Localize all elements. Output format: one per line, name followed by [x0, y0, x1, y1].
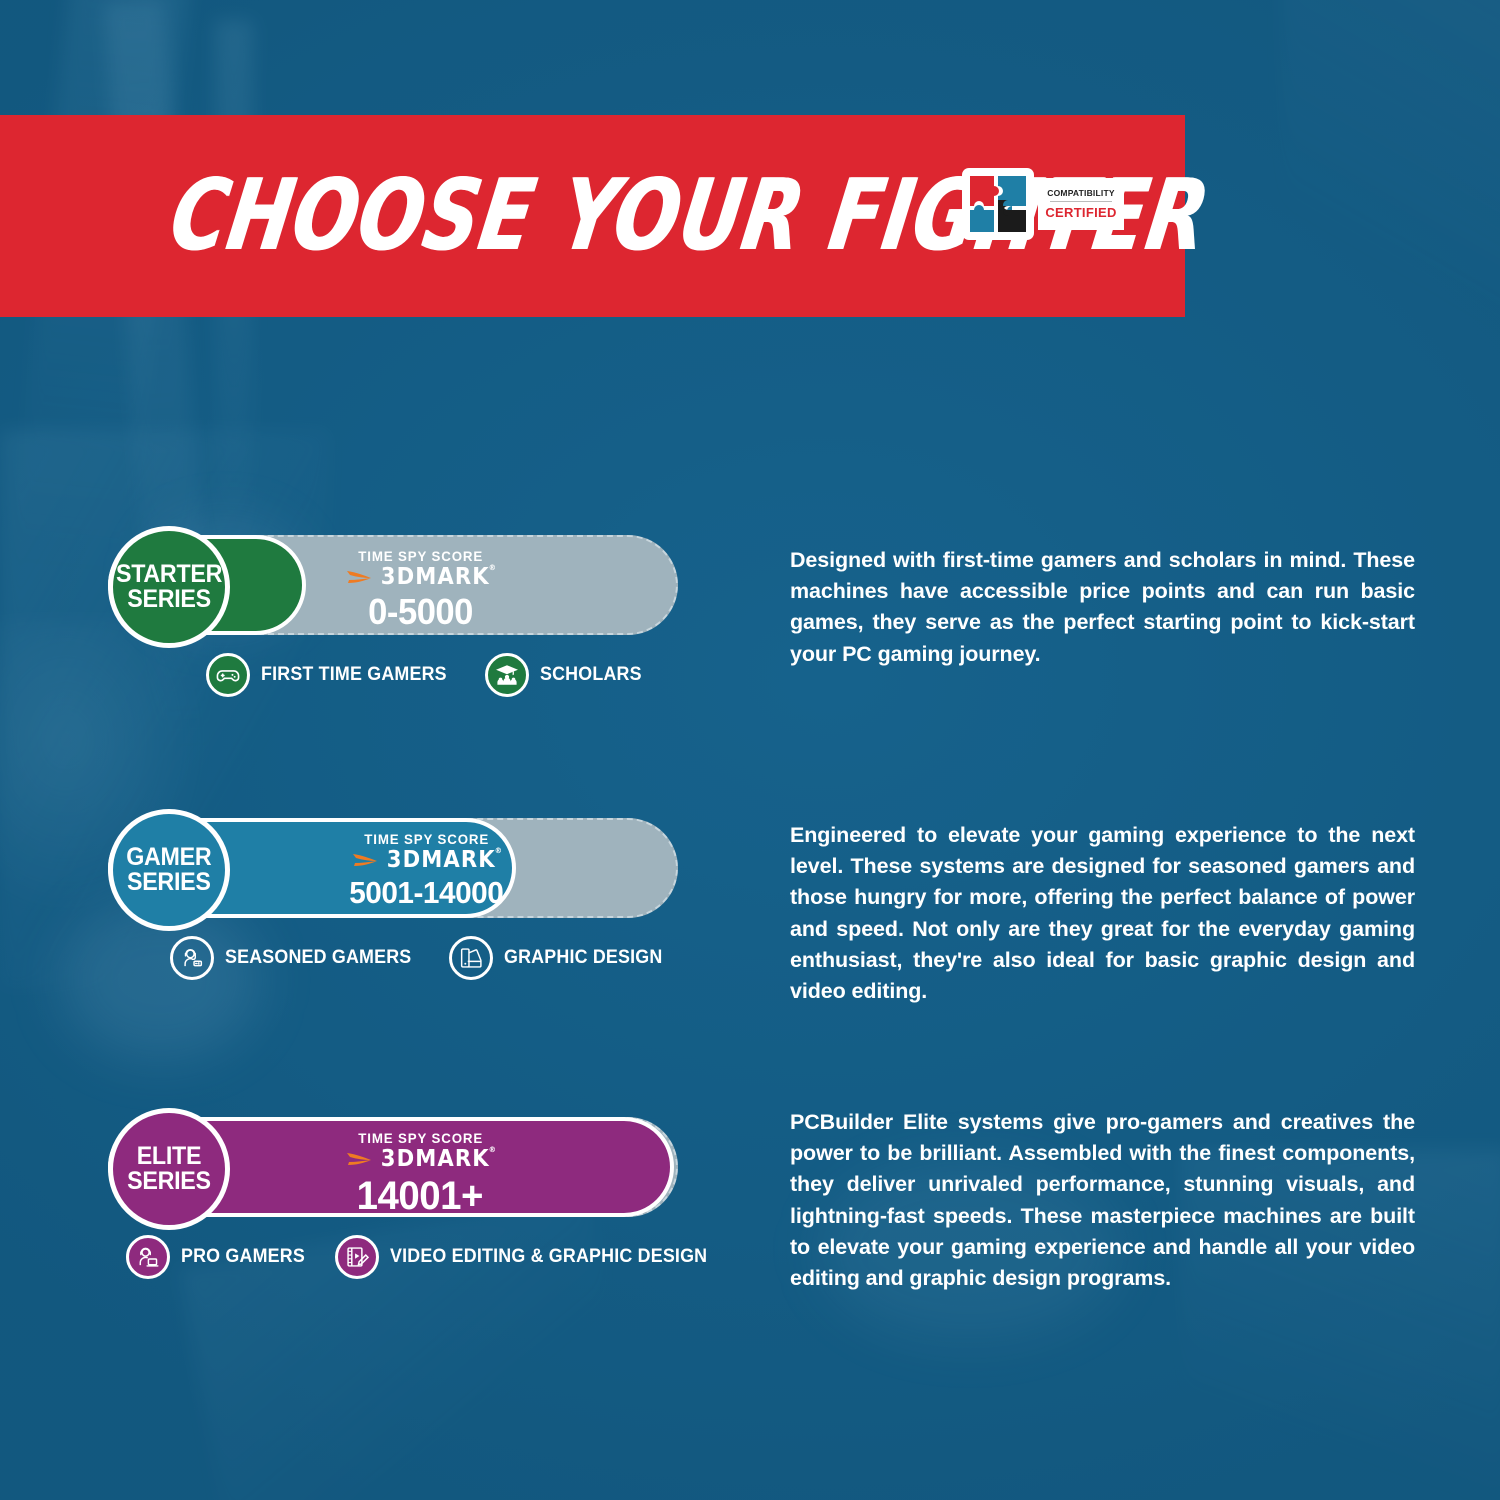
3dmark-logo: 3DMARK®: [346, 1148, 495, 1171]
3dmark-logo: 3DMARK®: [352, 849, 501, 872]
registered-mark: ®: [495, 847, 503, 855]
3dmark-text: 3DMARK: [381, 564, 490, 590]
certified-card: COMPATIBILITY CERTIFIED: [1038, 178, 1124, 230]
feature-label: GRAPHIC DESIGN: [504, 947, 662, 969]
tier-name-line1: GAMER: [126, 843, 211, 871]
tier-name-line1: STARTER: [116, 560, 222, 588]
scholars-icon: [485, 653, 529, 697]
feature-row: FIRST TIME GAMERS SCHOLARS: [206, 653, 674, 697]
tier-visual: STARTER SERIES TIME SPY SCORE 3DMARK® 0-…: [108, 535, 678, 635]
3dmark-text: 3DMARK: [381, 1146, 490, 1172]
score-value: 0-5000: [368, 594, 473, 630]
3dmark-wordmark: 3DMARK®: [381, 1148, 490, 1171]
tier-description: Engineered to elevate your gaming experi…: [790, 820, 1415, 1007]
tier-name-line2: SERIES: [127, 868, 211, 896]
tier-visual: GAMER SERIES TIME SPY SCORE 3DMARK® 5001…: [108, 818, 678, 918]
compatibility-certified-badge: COMPATIBILITY CERTIFIED: [962, 168, 1124, 240]
divider: [1050, 201, 1112, 202]
tier-badge-label: STARTER SERIES: [116, 562, 222, 613]
score-caption: TIME SPY SCORE: [364, 832, 489, 846]
tier-name-line2: SERIES: [127, 585, 211, 613]
feature-item[interactable]: SEASONED GAMERS: [170, 936, 423, 980]
3dmark-logo: 3DMARK®: [346, 566, 495, 589]
feature-item[interactable]: SCHOLARS: [485, 653, 648, 697]
film-pencil-icon: [335, 1235, 379, 1279]
3dmark-swoosh-icon: [352, 852, 378, 869]
score-value: 14001+: [357, 1176, 483, 1216]
feature-item[interactable]: FIRST TIME GAMERS: [206, 653, 459, 697]
certified-top-label: COMPATIBILITY: [1047, 188, 1114, 198]
tier-badge: GAMER SERIES: [108, 809, 230, 931]
score-block: TIME SPY SCORE 3DMARK® 14001+: [346, 1131, 495, 1216]
feature-item[interactable]: PRO GAMERS: [126, 1235, 313, 1279]
tier-visual: ELITE SERIES TIME SPY SCORE 3DMARK® 1400…: [108, 1117, 678, 1217]
3dmark-wordmark: 3DMARK®: [381, 566, 490, 589]
score-block: TIME SPY SCORE 3DMARK® 5001-14000: [346, 832, 507, 908]
registered-mark: ®: [489, 1146, 497, 1154]
feature-label: SEASONED GAMERS: [225, 947, 411, 969]
feature-label: PRO GAMERS: [181, 1246, 305, 1268]
3dmark-text: 3DMARK: [387, 847, 496, 873]
score-fill: STARTER SERIES: [108, 535, 306, 635]
feature-item[interactable]: GRAPHIC DESIGN: [449, 936, 673, 980]
feature-row: SEASONED GAMERS GRAPHIC DESIGN: [170, 936, 699, 980]
tier-description: Designed with first-time gamers and scho…: [790, 545, 1415, 670]
tier-description: PCBuilder Elite systems give pro-gamers …: [790, 1107, 1415, 1294]
feature-label: FIRST TIME GAMERS: [261, 664, 447, 686]
tier-badge: ELITE SERIES: [108, 1108, 230, 1230]
feature-label: VIDEO EDITING & GRAPHIC DESIGN: [390, 1246, 707, 1268]
tier-description-column: PCBuilder Elite systems give pro-gamers …: [790, 1107, 1415, 1294]
headset-gamer-icon: [170, 936, 214, 980]
score-track: STARTER SERIES TIME SPY SCORE 3DMARK® 0-…: [108, 535, 678, 635]
3dmark-swoosh-icon: [346, 1151, 372, 1168]
score-caption: TIME SPY SCORE: [358, 549, 483, 563]
tier-name-line2: SERIES: [127, 1167, 211, 1195]
score-block: TIME SPY SCORE 3DMARK® 0-5000: [346, 549, 495, 630]
tier-description-column: Engineered to elevate your gaming experi…: [790, 820, 1415, 1007]
feature-label: SCHOLARS: [540, 664, 642, 686]
tier-badge: STARTER SERIES: [108, 526, 230, 648]
gamepad-icon: [206, 653, 250, 697]
feature-item[interactable]: VIDEO EDITING & GRAPHIC DESIGN: [335, 1235, 727, 1279]
score-track: ELITE SERIES TIME SPY SCORE 3DMARK® 1400…: [108, 1117, 678, 1217]
tier-badge-label: ELITE SERIES: [127, 1144, 211, 1195]
3dmark-wordmark: 3DMARK®: [387, 849, 496, 872]
certified-bottom-label: CERTIFIED: [1045, 205, 1116, 220]
tier-badge-label: GAMER SERIES: [126, 845, 211, 896]
score-track: GAMER SERIES TIME SPY SCORE 3DMARK® 5001…: [108, 818, 678, 918]
registered-mark: ®: [489, 564, 497, 572]
tier-name-line1: ELITE: [137, 1142, 201, 1170]
puzzle-icon: [962, 168, 1034, 240]
tier-description-column: Designed with first-time gamers and scho…: [790, 545, 1415, 670]
color-swatch-icon: [449, 936, 493, 980]
pro-gamer-icon: [126, 1235, 170, 1279]
score-caption: TIME SPY SCORE: [358, 1131, 483, 1145]
feature-row: PRO GAMERS VIDEO EDITING & GRAPHIC DESIG…: [126, 1235, 753, 1279]
3dmark-swoosh-icon: [346, 569, 372, 586]
score-value: 5001-14000: [349, 877, 503, 908]
